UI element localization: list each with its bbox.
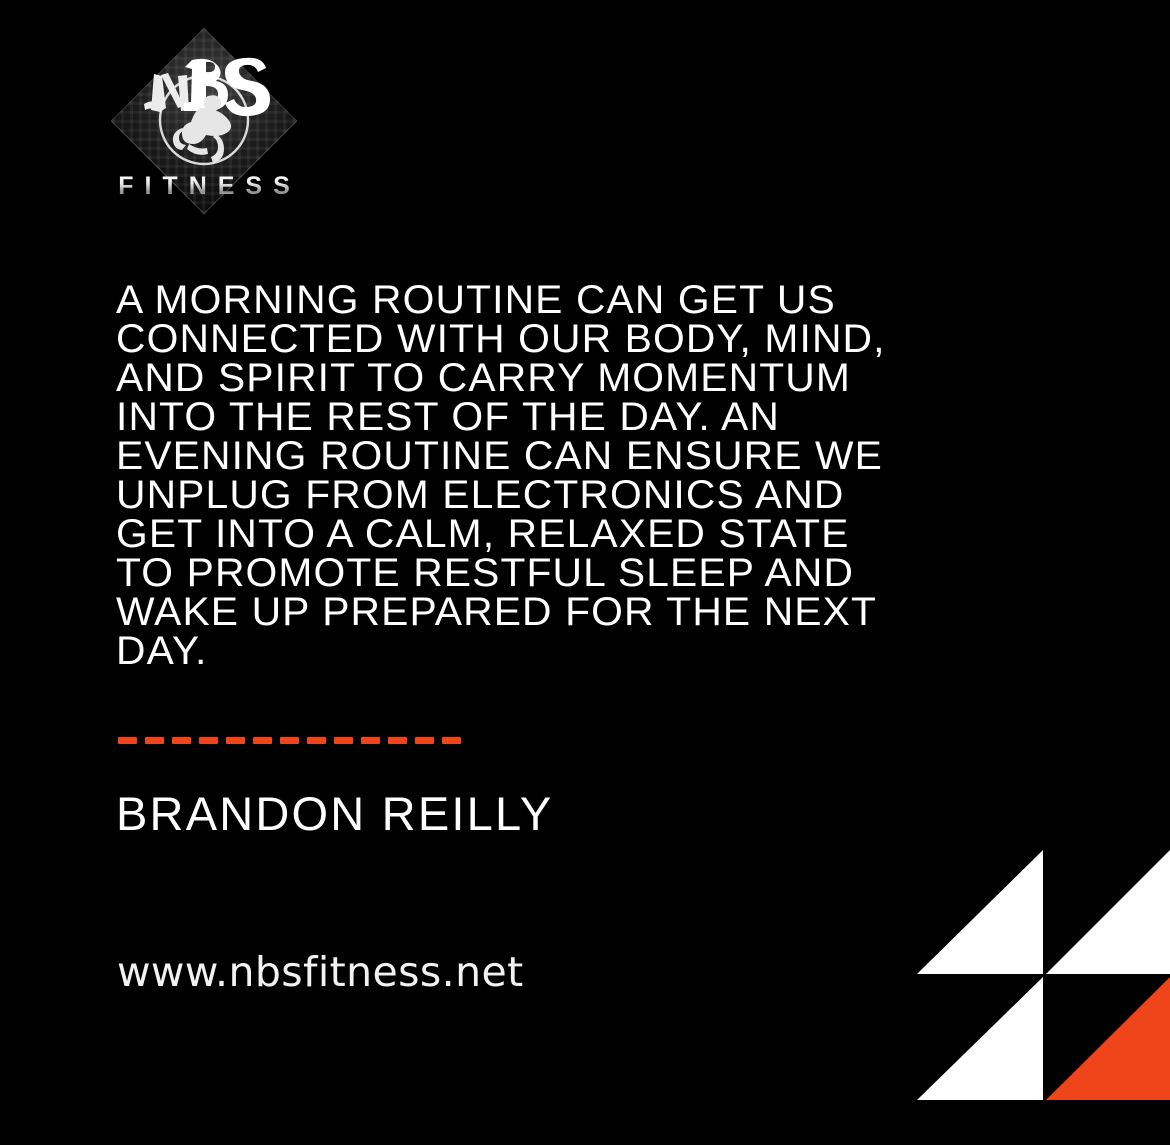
dashed-divider: [118, 737, 461, 744]
quote-line: A MORNING ROUTINE CAN GET US: [116, 281, 1065, 320]
divider-dash: [307, 737, 326, 744]
author-name: BRANDON REILLY: [116, 790, 553, 837]
quote-text: A MORNING ROUTINE CAN GET US CONNECTED W…: [116, 281, 1046, 671]
divider-dash: [226, 737, 245, 744]
quote-line: CONNECTED WITH OUR BODY, MIND,: [116, 320, 1065, 359]
quote-line: GET INTO A CALM, RELAXED STATE: [116, 515, 1065, 554]
quote-line: TO PROMOTE RESTFUL SLEEP AND: [116, 554, 1065, 593]
triangle-bottom-left: [917, 977, 1043, 1100]
divider-dash: [361, 737, 380, 744]
triangle-top-right: [1046, 850, 1170, 974]
brand-wordmark: FITNESS: [104, 174, 304, 199]
divider-dash: [172, 737, 191, 744]
divider-dash: [253, 737, 272, 744]
quote-line: INTO THE REST OF THE DAY. AN: [116, 398, 1065, 437]
quote-line: AND SPIRIT TO CARRY MOMENTUM: [116, 359, 1065, 398]
divider-dash: [199, 737, 218, 744]
website-url[interactable]: www.nbsfitness.net: [117, 952, 524, 993]
divider-dash: [280, 737, 299, 744]
four-triangle-pinwheel-mark: [917, 850, 1170, 1100]
quote-line: EVENING ROUTINE CAN ENSURE WE: [116, 437, 1065, 476]
triangle-top-left: [917, 850, 1043, 974]
brand-logo[interactable]: FITNESS: [104, 32, 304, 210]
divider-dash: [442, 737, 461, 744]
divider-dash: [334, 737, 353, 744]
triangle-bottom-right: [1046, 977, 1170, 1100]
divider-dash: [415, 737, 434, 744]
divider-dash: [145, 737, 164, 744]
divider-dash: [388, 737, 407, 744]
quote-line: WAKE UP PREPARED FOR THE NEXT: [116, 593, 1065, 632]
quote-line: DAY.: [116, 632, 1065, 671]
quote-line: UNPLUG FROM ELECTRONICS AND: [116, 476, 1065, 515]
divider-dash: [118, 737, 137, 744]
quote-card: FITNESS A MORNING ROUTINE CAN GET US CON…: [0, 0, 1170, 1145]
